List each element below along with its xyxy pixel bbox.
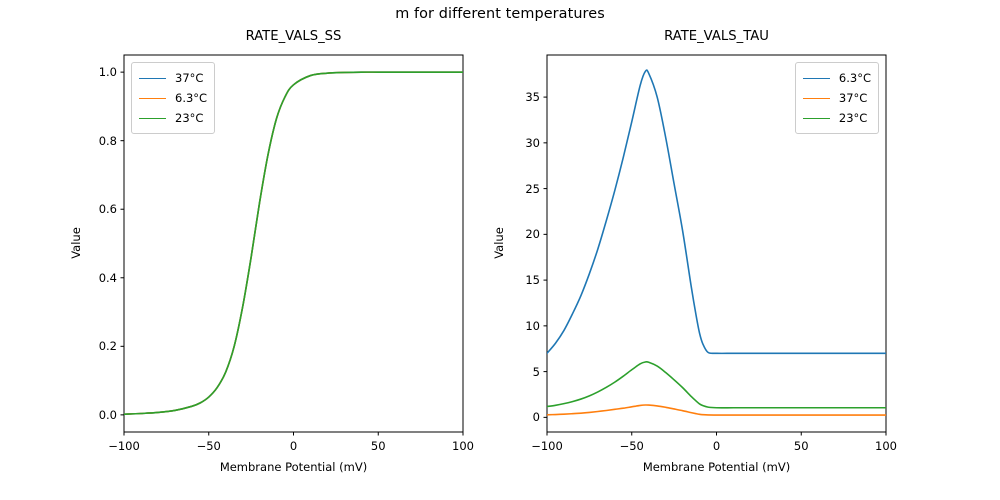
- legend-tau[interactable]: 6.3°C37°C23°C: [795, 62, 879, 134]
- legend-line-icon: [803, 118, 830, 119]
- y-axis-label-tau: Value: [492, 183, 506, 303]
- legend-line-icon: [803, 98, 830, 99]
- y-tick-label: 30: [525, 136, 540, 150]
- legend-label: 6.3°C: [839, 71, 871, 85]
- x-axis-label-tau: Membrane Potential (mV): [547, 460, 886, 474]
- y-tick-label: 5: [533, 365, 540, 379]
- y-tick-label: 10: [525, 319, 540, 333]
- x-tick-label: −50: [620, 439, 644, 453]
- legend-entry: 6.3°C: [803, 68, 871, 88]
- y-tick-label: 20: [525, 227, 540, 241]
- x-tick-label: 0: [713, 439, 720, 453]
- series-line-23C: [547, 362, 886, 408]
- y-tick-label: 15: [525, 273, 540, 287]
- matplotlib-figure: m for different temperatures RATE_VALS_S…: [0, 0, 1000, 500]
- legend-label: 37°C: [839, 91, 867, 105]
- legend-entry: 23°C: [803, 108, 871, 128]
- x-tick-label: −100: [531, 439, 563, 453]
- legend-line-icon: [803, 78, 830, 79]
- legend-entry: 37°C: [803, 88, 871, 108]
- x-tick-label: 100: [875, 439, 897, 453]
- legend-label: 23°C: [839, 111, 867, 125]
- x-tick-label: 50: [794, 439, 809, 453]
- y-tick-label: 35: [525, 90, 540, 104]
- series-line-37C: [547, 405, 886, 415]
- y-tick-label: 25: [525, 182, 540, 196]
- y-tick-label: 0: [533, 410, 540, 424]
